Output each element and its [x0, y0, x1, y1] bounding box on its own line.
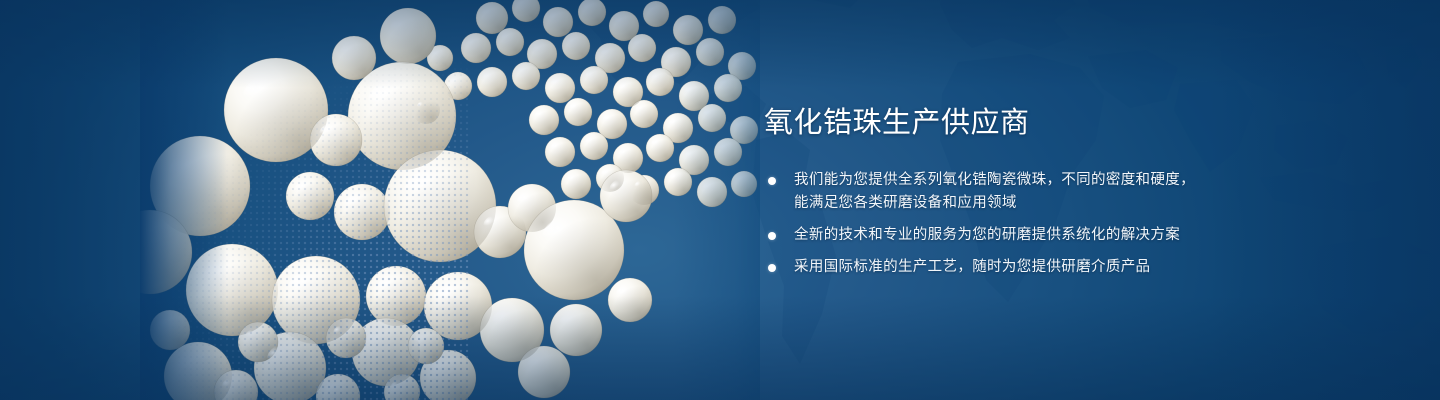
banner-vignette: [0, 0, 1440, 400]
hero-banner: 氧化锆珠生产供应商 我们能为您提供全系列氧化锆陶瓷微珠，不同的密度和硬度， 能满…: [0, 0, 1440, 400]
